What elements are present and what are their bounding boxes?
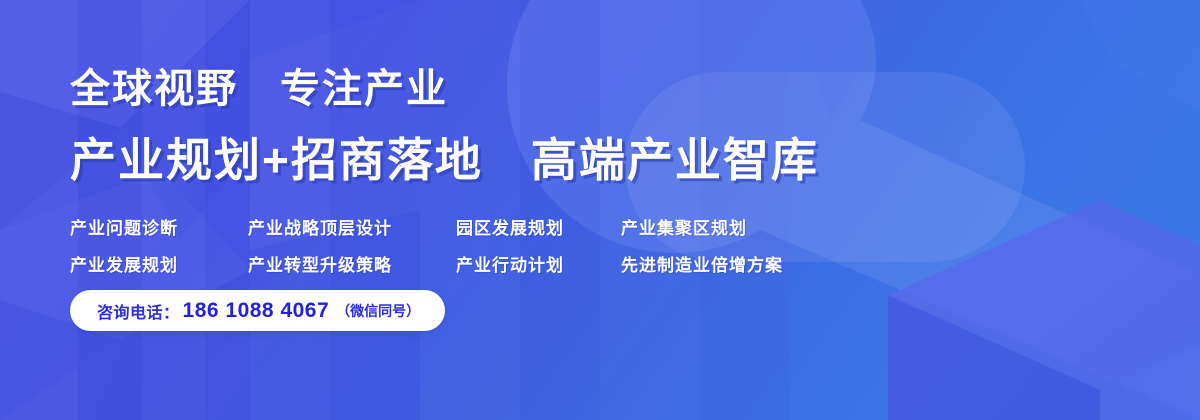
contact-phone-pill[interactable]: 咨询电话： 186 1088 4067 （微信同号） bbox=[70, 290, 445, 331]
service-list: 产业问题诊断 产业战略顶层设计 园区发展规划 产业集聚区规划 产业发展规划 产业… bbox=[70, 208, 850, 282]
service-link[interactable]: 先进制造业倍增方案 bbox=[621, 251, 831, 276]
service-row: 产业发展规划 产业转型升级策略 产业行动计划 先进制造业倍增方案 bbox=[70, 245, 850, 282]
contact-number: 186 1088 4067 bbox=[183, 299, 330, 323]
service-link[interactable]: 产业发展规划 bbox=[70, 251, 248, 276]
promo-banner: 全球视野 专注产业 产业规划+招商落地 高端产业智库 产业问题诊断 产业战略顶层… bbox=[0, 0, 1200, 420]
service-link[interactable]: 产业转型升级策略 bbox=[248, 251, 456, 276]
banner-content: 全球视野 专注产业 产业规划+招商落地 高端产业智库 产业问题诊断 产业战略顶层… bbox=[70, 0, 1130, 420]
service-link[interactable]: 产业行动计划 bbox=[456, 251, 621, 276]
service-link[interactable]: 产业战略顶层设计 bbox=[248, 214, 456, 239]
contact-note: （微信同号） bbox=[336, 301, 420, 321]
service-link[interactable]: 产业集聚区规划 bbox=[621, 214, 831, 239]
headline-secondary: 产业规划+招商落地 高端产业智库 bbox=[70, 133, 819, 187]
headline-primary: 全球视野 专注产业 bbox=[70, 66, 448, 112]
service-link[interactable]: 园区发展规划 bbox=[456, 214, 621, 239]
contact-label: 咨询电话： bbox=[97, 299, 180, 323]
service-row: 产业问题诊断 产业战略顶层设计 园区发展规划 产业集聚区规划 bbox=[70, 208, 850, 245]
service-link[interactable]: 产业问题诊断 bbox=[70, 214, 248, 239]
